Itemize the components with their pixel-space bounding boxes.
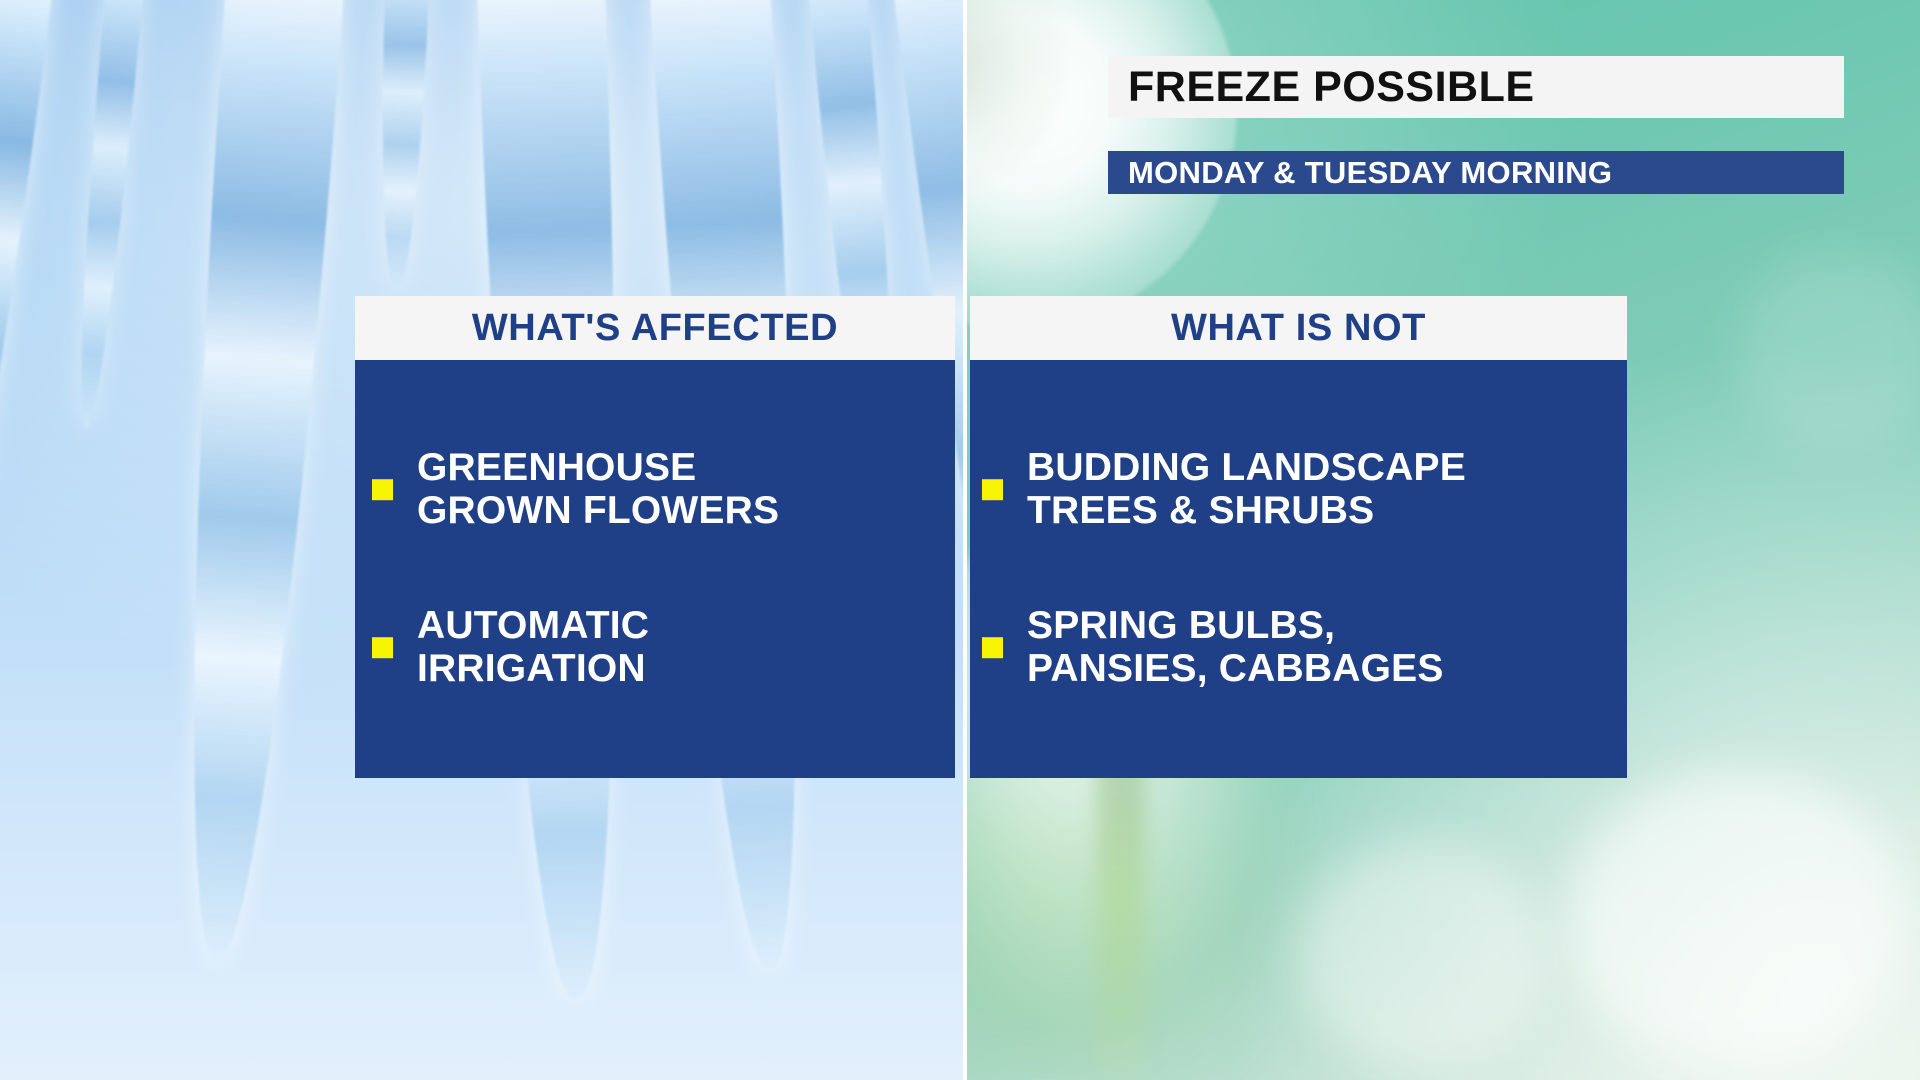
photo-divider [963, 0, 967, 1080]
bokeh-highlight [1297, 840, 1547, 1070]
icicle-shape [374, 0, 429, 291]
panel-header-not-affected: WHAT IS NOT [970, 296, 1627, 360]
list-item: AUTOMATIC IRRIGATION [355, 605, 955, 691]
list-item-label: BUDDING LANDSCAPE TREES & SHRUBS [1027, 447, 1466, 533]
panel-body-affected: GREENHOUSE GROWN FLOWERS AUTOMATIC IRRIG… [355, 360, 955, 778]
panel-whats-affected: WHAT'S AFFECTED GREENHOUSE GROWN FLOWERS… [355, 296, 955, 778]
bokeh-highlight [1567, 770, 1907, 1070]
bullet-list-not-affected: BUDDING LANDSCAPE TREES & SHRUBS SPRING … [970, 447, 1627, 691]
icicle-shape [0, 0, 56, 659]
headline-banner: FREEZE POSSIBLE MONDAY & TUESDAY MORNING [1108, 56, 1844, 194]
icicle-shape [158, 0, 345, 962]
square-bullet-icon [982, 637, 1003, 658]
headline-title: FREEZE POSSIBLE [1108, 56, 1844, 118]
square-bullet-icon [372, 480, 393, 501]
list-item-label: GREENHOUSE GROWN FLOWERS [417, 447, 779, 533]
panel-what-is-not: WHAT IS NOT BUDDING LANDSCAPE TREES & SH… [970, 296, 1627, 778]
list-item: BUDDING LANDSCAPE TREES & SHRUBS [970, 447, 1627, 533]
list-item: SPRING BULBS, PANSIES, CABBAGES [970, 605, 1627, 691]
headline-subtitle: MONDAY & TUESDAY MORNING [1108, 151, 1844, 194]
weather-graphic-canvas: FREEZE POSSIBLE MONDAY & TUESDAY MORNING… [0, 0, 1920, 1080]
panel-header-affected: WHAT'S AFFECTED [355, 296, 955, 360]
square-bullet-icon [982, 480, 1003, 501]
icicle-shape [67, 0, 146, 430]
list-item-label: SPRING BULBS, PANSIES, CABBAGES [1027, 605, 1444, 691]
panel-header-label: WHAT'S AFFECTED [472, 307, 838, 350]
panel-body-not-affected: BUDDING LANDSCAPE TREES & SHRUBS SPRING … [970, 360, 1627, 778]
panel-header-label: WHAT IS NOT [1171, 307, 1426, 350]
bullet-list-affected: GREENHOUSE GROWN FLOWERS AUTOMATIC IRRIG… [355, 447, 955, 691]
bokeh-highlight [1737, 250, 1920, 450]
list-item-label: AUTOMATIC IRRIGATION [417, 605, 649, 691]
square-bullet-icon [372, 637, 393, 658]
list-item: GREENHOUSE GROWN FLOWERS [355, 447, 955, 533]
